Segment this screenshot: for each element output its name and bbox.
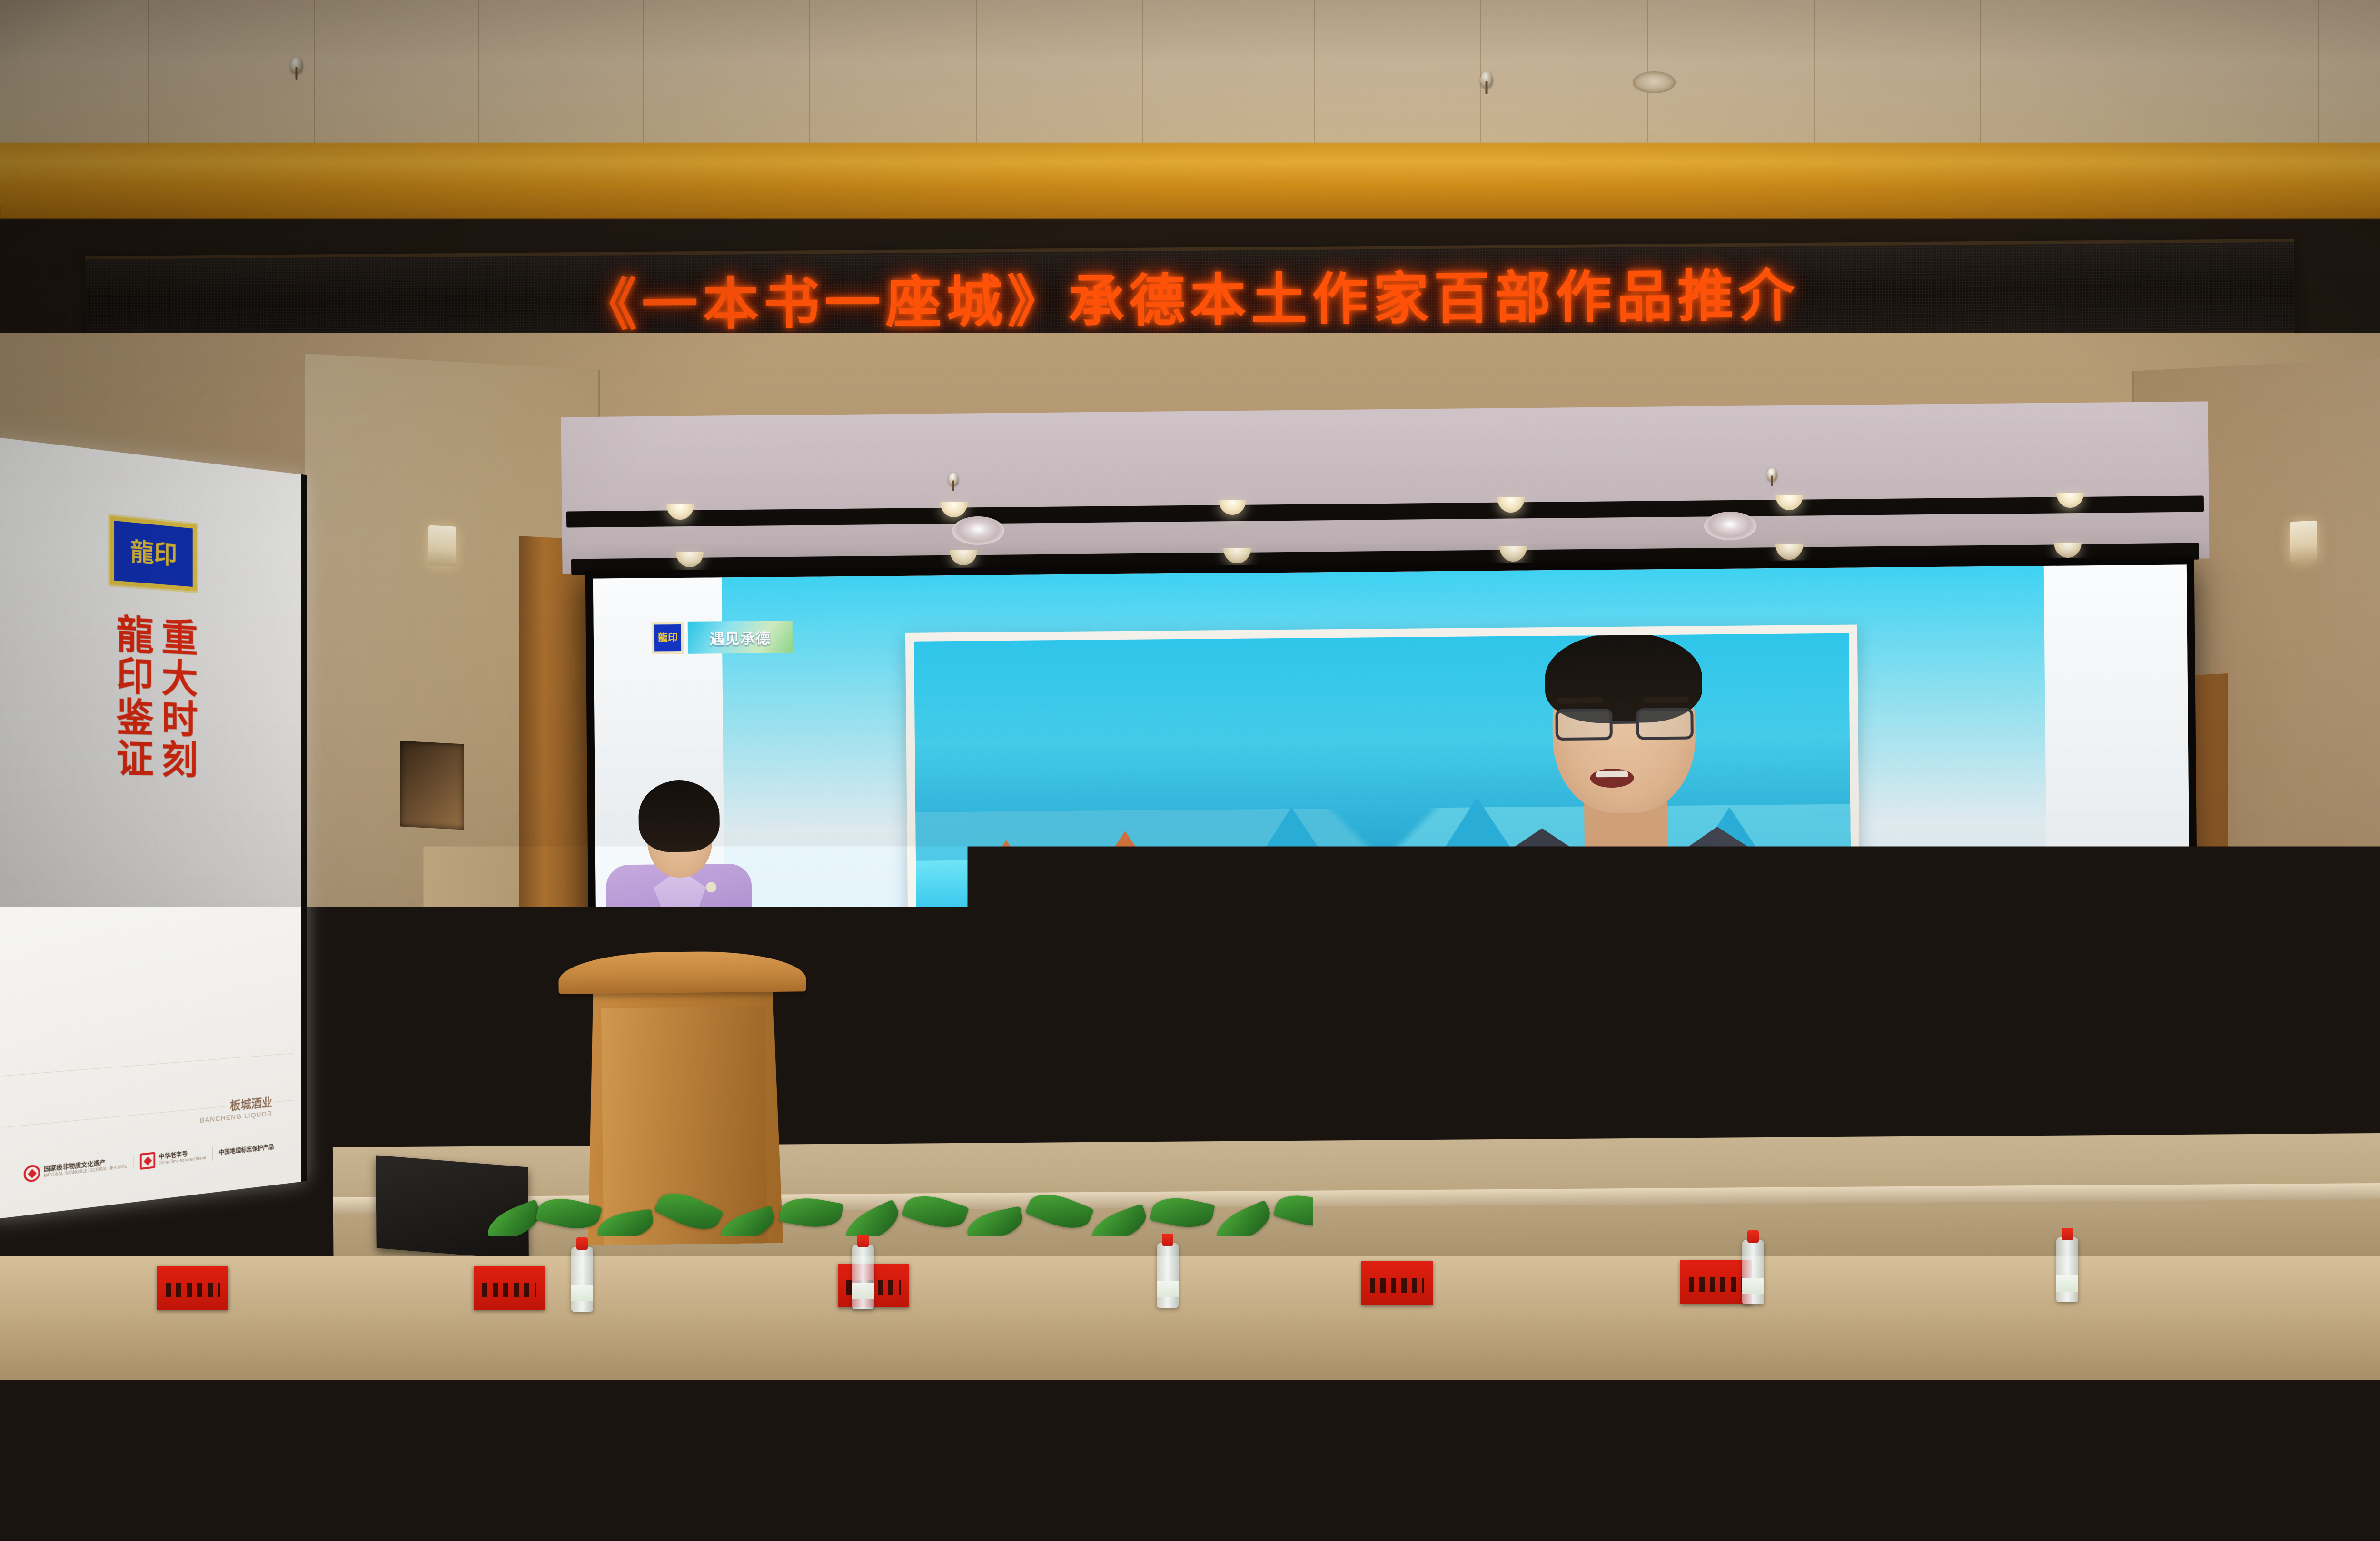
plant-leaf xyxy=(1025,1186,1094,1237)
program-title-band: 遇见承德 xyxy=(688,621,793,654)
sprinkler-head-icon xyxy=(290,57,303,73)
plant-leaf xyxy=(1521,1189,1587,1232)
time-honored-brand-icon xyxy=(140,1152,155,1170)
divider xyxy=(212,1147,213,1161)
plant-leaf xyxy=(1459,1204,1522,1245)
plant-leaf xyxy=(2201,1203,2265,1247)
auditorium-seat-front[interactable] xyxy=(1656,1453,1847,1541)
dragon-seal-logo-screen: 龍印 xyxy=(652,622,684,654)
sprinkler-head-icon xyxy=(1480,71,1493,88)
cert-item: 国家级非物质文化遗产 NATIONAL INTANGIBLE CULTURAL … xyxy=(24,1155,127,1183)
wall-niche xyxy=(400,741,464,830)
divider xyxy=(133,1155,134,1169)
brand-block-left: 板城酒业 BANCHENG LIQUOR xyxy=(200,1093,272,1125)
cert-item: 中华老字号 China Time-honored Brand xyxy=(140,1146,206,1170)
auditorium-seat-front[interactable] xyxy=(0,1461,171,1541)
auditorium-seat-front[interactable] xyxy=(2075,1452,2266,1541)
plant-leaf xyxy=(1273,1188,1341,1233)
auditorium-seat-front[interactable] xyxy=(190,1460,381,1541)
plant-leaf xyxy=(1830,1204,1893,1247)
presenter-brooch xyxy=(706,882,716,892)
seal-text: 龍印 xyxy=(654,624,681,651)
speaker-eyebrow-left xyxy=(1557,697,1603,704)
cert-item: 中国地理标志保护产品 xyxy=(218,1144,274,1156)
auditorium-seat-front[interactable] xyxy=(400,1459,590,1541)
plant-leaf xyxy=(1087,1204,1151,1248)
banner-headline-col-right: 重大时刻 xyxy=(157,616,195,780)
auditorium-seat-front[interactable] xyxy=(609,1458,800,1541)
glasses-icon xyxy=(1555,708,1694,742)
led-banner-text: 《一本书一座城》承德本土作家百部作品推介 xyxy=(580,249,1799,340)
screen-right-margin xyxy=(2044,564,2192,1134)
air-diffuser-icon xyxy=(1704,512,1756,540)
plant-leaf xyxy=(779,1193,843,1232)
plant-leaf xyxy=(1644,1187,1713,1236)
main-led-screen-frame: 龍印 遇见承德 杨勇 冀籍编剧 作家 河北影视集团艺委会主任 河北省作协副主席 … xyxy=(585,557,2200,1154)
audience-area xyxy=(0,1256,2380,1541)
auditorium-seat-front[interactable] xyxy=(1238,1455,1428,1541)
presenter-hair xyxy=(638,780,720,852)
speaker-role-line-2: 河北影视集团艺委会主任 河北省作协副主席 xyxy=(735,1015,1261,1057)
seal-text: 龍印 xyxy=(130,540,178,568)
banner-headline-col-left: 龍印鉴证 xyxy=(112,612,151,779)
auditorium-seat-front[interactable] xyxy=(2285,1451,2380,1541)
plant-leaf xyxy=(1150,1192,1215,1233)
ceiling-gold-wood-band xyxy=(0,143,2380,219)
air-diffuser-icon xyxy=(1633,71,1676,93)
speaker-role-line-1: 冀籍编剧 作家 xyxy=(734,979,1260,1017)
banner-headline-left: 重大时刻 龍印鉴证 xyxy=(112,612,195,780)
plant-leaf xyxy=(1706,1207,1768,1245)
plant-leaf xyxy=(2078,1206,2140,1245)
auditorium-seat[interactable] xyxy=(2066,1318,2223,1456)
plant-leaf xyxy=(1396,1186,1465,1238)
main-led-screen: 龍印 遇见承德 杨勇 冀籍编剧 作家 河北影视集团艺委会主任 河北省作协副主席 … xyxy=(593,564,2192,1146)
auditorium-seat-front[interactable] xyxy=(1447,1454,1637,1541)
speaker-name: 杨勇 xyxy=(734,917,1260,978)
plant-leaf xyxy=(1767,1185,1836,1238)
plant-leaf xyxy=(483,1199,546,1246)
plant-leaf xyxy=(596,1209,655,1243)
side-projection-screen-left: 龍印 重大时刻 龍印鉴证 板城酒业 BANCHENG LIQUOR 国家级非物质… xyxy=(0,436,307,1219)
certification-row-left: 国家级非物质文化遗产 NATIONAL INTANGIBLE CULTURAL … xyxy=(0,1136,301,1186)
auditorium-seat[interactable] xyxy=(800,1325,957,1463)
auditorium-seat-front[interactable] xyxy=(819,1457,1009,1541)
plant-leaf xyxy=(1893,1192,1957,1231)
plant-leaf xyxy=(654,1184,724,1238)
dragon-seal-logo-left: 龍印 xyxy=(108,514,198,593)
cert-label: 中国地理标志保护产品 xyxy=(218,1143,274,1156)
plant-leaf xyxy=(716,1205,779,1247)
podium-top xyxy=(558,950,806,994)
auditorium-seat-front[interactable] xyxy=(1028,1456,1219,1541)
air-diffuser-icon xyxy=(952,516,1004,545)
conference-hall-scene: 《一本书一座城》承德本土作家百部作品推介 出口 龍印 xyxy=(0,0,2380,1541)
heritage-seal-icon xyxy=(24,1164,40,1183)
program-logo-bug: 龍印 遇见承德 xyxy=(652,621,793,654)
plant-leaf xyxy=(535,1192,603,1235)
plant-leaf xyxy=(2263,1190,2329,1231)
plant-leaf xyxy=(840,1199,905,1250)
wall-sconce-left xyxy=(428,525,456,566)
plant-leaf xyxy=(902,1188,969,1235)
speaker-eyebrow-right xyxy=(1644,697,1689,703)
auditorium-seat-front[interactable] xyxy=(1866,1452,2056,1541)
video-speaker xyxy=(1461,636,1798,1048)
sprinkler-head-icon xyxy=(949,473,959,485)
wall-sconce-right xyxy=(2290,520,2317,562)
plant-leaf xyxy=(1582,1201,1647,1248)
seat-name-card xyxy=(1152,1389,1238,1441)
plant-leaf xyxy=(2139,1187,2207,1237)
plant-leaf xyxy=(2015,1187,2084,1234)
sprinkler-head-icon xyxy=(1767,468,1777,481)
plant-leaf xyxy=(1336,1208,1397,1244)
seat-name-card xyxy=(1728,1386,1814,1438)
plant-leaf xyxy=(964,1206,1025,1244)
lower-third-overlay: 杨勇 冀籍编剧 作家 河北影视集团艺委会主任 河北省作协副主席 xyxy=(734,917,1261,1057)
plant-leaf xyxy=(1211,1200,1276,1249)
